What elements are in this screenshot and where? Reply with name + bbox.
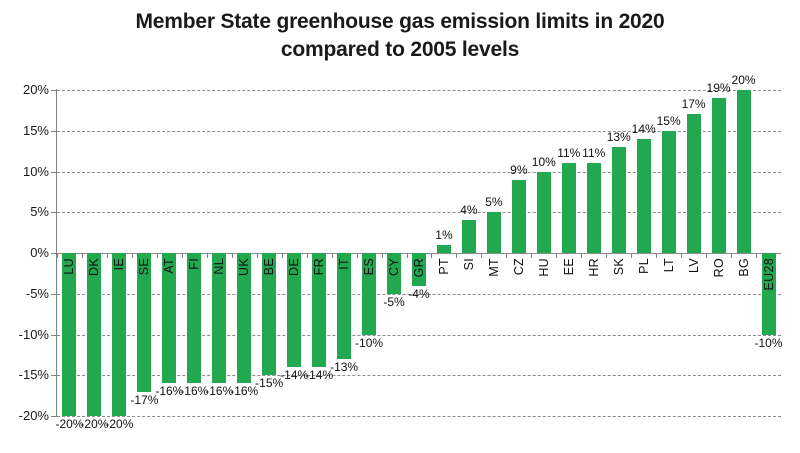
bar-group[interactable]: GR-4%: [407, 90, 432, 416]
bar-value-label: -16%: [205, 384, 233, 398]
bar-value-label: -15%: [255, 376, 283, 390]
bar-value-label: 20%: [732, 73, 756, 87]
x-axis-tick: [481, 253, 482, 258]
bar-group[interactable]: SE-17%: [132, 90, 157, 416]
x-axis-category-label: RO: [712, 258, 726, 277]
bar-value-label: 17%: [682, 97, 706, 111]
bar-value-label: -14%: [305, 368, 333, 382]
bar-group[interactable]: HR11%: [581, 90, 606, 416]
bar-group[interactable]: CZ9%: [506, 90, 531, 416]
x-axis-tick: [431, 253, 432, 258]
x-axis-tick: [506, 253, 507, 258]
x-axis-tick: [706, 253, 707, 258]
x-axis-category-label: NL: [212, 258, 226, 275]
x-axis-category-label: FR: [312, 258, 326, 275]
bar-value-label: 15%: [657, 114, 681, 128]
bar-group[interactable]: DK-20%: [82, 90, 107, 416]
x-axis-category-label: AT: [162, 258, 176, 274]
bar-value-label: -20%: [105, 417, 133, 431]
x-axis-tick: [57, 253, 58, 258]
x-axis-tick: [257, 253, 258, 258]
bar-group[interactable]: ES-10%: [357, 90, 382, 416]
x-axis-tick: [556, 253, 557, 258]
x-axis-tick: [656, 253, 657, 258]
y-axis-tick-label: 5%: [5, 204, 49, 219]
bar-group[interactable]: EU28-10%: [756, 90, 781, 416]
bar[interactable]: [687, 114, 701, 253]
bar-group[interactable]: MT5%: [481, 90, 506, 416]
y-axis-tick-label: -10%: [5, 327, 49, 342]
bar-group[interactable]: FI-16%: [182, 90, 207, 416]
bar-group[interactable]: HU10%: [531, 90, 556, 416]
x-axis-category-label: CZ: [512, 258, 526, 275]
chart-title: Member State greenhouse gas emission lim…: [0, 8, 800, 63]
x-axis-category-label: LT: [662, 258, 676, 272]
x-axis-category-label: PT: [437, 258, 451, 275]
bar[interactable]: [487, 212, 501, 253]
bar[interactable]: [187, 253, 201, 383]
bar-group[interactable]: PL14%: [631, 90, 656, 416]
bar[interactable]: [62, 253, 76, 416]
bar[interactable]: [562, 163, 576, 253]
x-axis-tick: [681, 253, 682, 258]
y-axis-tick-label: -5%: [5, 286, 49, 301]
chart-title-line-2: compared to 2005 levels: [0, 36, 800, 64]
x-axis-tick: [456, 253, 457, 258]
bar-value-label: -10%: [754, 336, 782, 350]
bar[interactable]: [712, 98, 726, 253]
x-axis-tick: [232, 253, 233, 258]
x-axis-category-label: SK: [612, 258, 626, 275]
bar-group[interactable]: CY-5%: [382, 90, 407, 416]
bar-group[interactable]: RO19%: [706, 90, 731, 416]
x-axis-category-label: FI: [187, 258, 201, 270]
x-axis-category-label: SE: [137, 258, 151, 275]
bar-value-label: 19%: [707, 81, 731, 95]
x-axis-tick: [182, 253, 183, 258]
bar-value-label: -16%: [230, 384, 258, 398]
x-axis-tick: [132, 253, 133, 258]
bar[interactable]: [537, 172, 551, 254]
bar-value-label: 14%: [632, 122, 656, 136]
bar-value-label: -16%: [155, 384, 183, 398]
bar-value-label: 13%: [607, 130, 631, 144]
bar[interactable]: [112, 253, 126, 416]
x-axis-category-label: ES: [362, 258, 376, 275]
bar[interactable]: [662, 131, 676, 253]
bar[interactable]: [737, 90, 751, 253]
x-axis-category-label: DK: [87, 258, 101, 276]
bar-value-label: -17%: [130, 393, 158, 407]
bar[interactable]: [587, 163, 601, 253]
bar-value-label: 4%: [460, 203, 477, 217]
x-axis-tick: [531, 253, 532, 258]
bar[interactable]: [437, 245, 451, 253]
bar-value-label: -5%: [383, 295, 404, 309]
bar-group[interactable]: SI4%: [456, 90, 481, 416]
plot-area: LU-20%DK-20%IE-20%SE-17%AT-16%FI-16%NL-1…: [57, 90, 781, 416]
y-axis-tick-label: -20%: [5, 408, 49, 423]
gridline: [57, 416, 781, 417]
x-axis-tick: [157, 253, 158, 258]
bar-value-label: -10%: [355, 336, 383, 350]
x-axis-category-label: EE: [562, 258, 576, 275]
x-axis-tick: [207, 253, 208, 258]
bar-value-label: -4%: [408, 287, 429, 301]
bar-value-label: -16%: [180, 384, 208, 398]
bar-group[interactable]: PT1%: [431, 90, 456, 416]
bar-group[interactable]: LV17%: [681, 90, 706, 416]
x-axis-category-label: MT: [487, 258, 501, 277]
x-axis-tick: [82, 253, 83, 258]
y-axis-tick-label: 20%: [5, 82, 49, 97]
bar-group[interactable]: LU-20%: [57, 90, 82, 416]
x-axis-category-label: IT: [337, 258, 351, 270]
bar-group[interactable]: UK-16%: [232, 90, 257, 416]
x-axis-tick: [407, 253, 408, 258]
bar-value-label: 9%: [510, 163, 527, 177]
x-axis-tick: [581, 253, 582, 258]
bar-value-label: -13%: [330, 360, 358, 374]
x-axis-tick: [731, 253, 732, 258]
x-axis-tick: [357, 253, 358, 258]
x-axis-category-label: SI: [462, 258, 476, 270]
chart-title-line-1: Member State greenhouse gas emission lim…: [0, 8, 800, 36]
bar-group[interactable]: AT-16%: [157, 90, 182, 416]
bar-value-label: -20%: [80, 417, 108, 431]
bar-value-label: 1%: [435, 228, 452, 242]
bar-value-label: 10%: [532, 155, 556, 169]
bar-value-label: 11%: [582, 146, 605, 160]
x-axis-category-label: HU: [537, 258, 551, 277]
x-axis-tick: [307, 253, 308, 258]
bar[interactable]: [87, 253, 101, 416]
x-axis-category-label: LU: [62, 258, 76, 275]
x-axis-tick: [756, 253, 757, 258]
chart-root: Member State greenhouse gas emission lim…: [0, 0, 800, 453]
x-axis-category-label: PL: [637, 258, 651, 274]
y-axis-tick-label: 0%: [5, 245, 49, 260]
bar-group[interactable]: EE11%: [556, 90, 581, 416]
y-axis-tick-label: 15%: [5, 123, 49, 138]
bar-group[interactable]: IT-13%: [332, 90, 357, 416]
bar-group[interactable]: IE-20%: [107, 90, 132, 416]
x-axis-category-label: LV: [687, 258, 701, 273]
bar-value-label: 5%: [485, 195, 502, 209]
x-axis-tick: [382, 253, 383, 258]
bar[interactable]: [612, 147, 626, 253]
x-axis-tick: [631, 253, 632, 258]
x-axis-tick: [606, 253, 607, 258]
bar-value-label: -20%: [55, 417, 83, 431]
x-axis-category-label: EU28: [762, 258, 776, 290]
bar-group[interactable]: LT15%: [656, 90, 681, 416]
bar-group[interactable]: BG20%: [731, 90, 756, 416]
x-axis-category-label: GR: [412, 258, 426, 277]
bar-value-label: -14%: [280, 368, 308, 382]
x-axis-tick: [282, 253, 283, 258]
bar-value-label: 11%: [557, 146, 580, 160]
x-axis-category-label: UK: [237, 258, 251, 276]
y-axis-tick-label: 10%: [5, 164, 49, 179]
x-axis-category-label: HR: [587, 258, 601, 277]
x-axis-tick: [332, 253, 333, 258]
bar-group[interactable]: FR-14%: [307, 90, 332, 416]
x-axis-tick: [107, 253, 108, 258]
x-axis-category-label: BE: [262, 258, 276, 275]
x-axis-category-label: IE: [112, 258, 126, 270]
bar-group[interactable]: SK13%: [606, 90, 631, 416]
bar[interactable]: [637, 139, 651, 253]
bar-group[interactable]: DE-14%: [282, 90, 307, 416]
bar-series: LU-20%DK-20%IE-20%SE-17%AT-16%FI-16%NL-1…: [57, 90, 781, 416]
bar-group[interactable]: NL-16%: [207, 90, 232, 416]
y-axis-tick-label: -15%: [5, 367, 49, 382]
x-axis-category-label: CY: [387, 258, 401, 276]
bar-group[interactable]: BE-15%: [257, 90, 282, 416]
x-axis-category-label: BG: [737, 258, 751, 277]
bar[interactable]: [512, 180, 526, 253]
bar[interactable]: [462, 220, 476, 253]
x-axis-category-label: DE: [287, 258, 301, 276]
